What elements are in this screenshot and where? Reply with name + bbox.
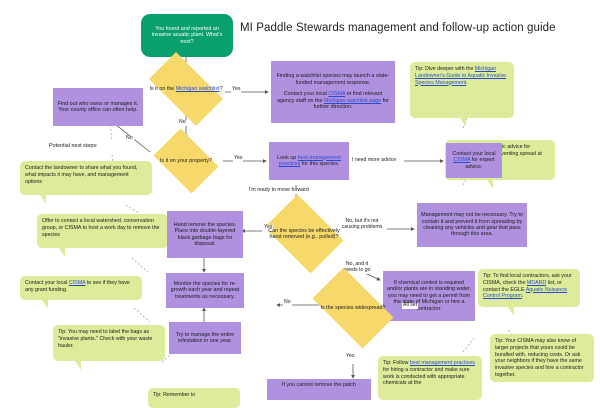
bh-b: for hiring a contractor and make sure wo… bbox=[383, 367, 470, 387]
decision-is-species-widespread[interactable]: Is the species widespread? bbox=[303, 277, 403, 339]
node-start-terminator[interactable]: You found and reported an invasive acuat… bbox=[141, 14, 233, 57]
tip-remember-text: Tip: Remember to bbox=[153, 392, 195, 398]
callout-tail bbox=[42, 300, 48, 309]
process-management-not-necessary[interactable]: Management may not be necessary. Try to … bbox=[417, 203, 527, 247]
process-look-up-bmp[interactable]: Look up best management practices for th… bbox=[269, 142, 349, 180]
tip-bundle-text: Tip: Your CISMA may also know of larger … bbox=[495, 338, 584, 378]
label-potential-next-steps: Potential next steps: bbox=[48, 143, 99, 149]
contact-cisma-text: Contact your local CISMA for expert advi… bbox=[450, 151, 498, 170]
process-cannot-remove-patch[interactable]: If you cannot remove the patch bbox=[267, 379, 371, 400]
watchlist-para-1: Finding a watchlist species may launch a… bbox=[275, 73, 391, 86]
edge-label-need-more-advice: I need more advice bbox=[351, 158, 397, 164]
decision-is-it-on-your-property[interactable]: Is it on your property? bbox=[148, 134, 224, 188]
decision-property-text: Is it on your property? bbox=[154, 158, 218, 164]
process-watchlist-response[interactable]: Finding a watchlist species may launch a… bbox=[271, 61, 395, 123]
cannot-remove-text: If you cannot remove the patch bbox=[282, 382, 356, 388]
tc-c: . bbox=[522, 293, 523, 299]
cc-a: Contact your local bbox=[452, 151, 495, 157]
find-owner-text: Find out who owns or manages it. Your co… bbox=[57, 101, 139, 114]
callout-tip-find-contractors[interactable]: Tip: To find local contractors, ask your… bbox=[478, 269, 580, 307]
page-title: MI Paddle Stewards management and follow… bbox=[240, 22, 556, 34]
cisma-link[interactable]: CISMA bbox=[328, 91, 345, 97]
cisma-link[interactable]: CISMA bbox=[453, 157, 470, 163]
decision-watchlist-text: Is it on the Michigan watchlist? bbox=[143, 86, 228, 92]
hand-remove-text: Hand remove the species. Place into doub… bbox=[171, 222, 239, 248]
best-management-practices-link[interactable]: best management practices bbox=[410, 360, 475, 366]
grant-a: Contact your local bbox=[25, 280, 69, 286]
process-contact-local-cisma[interactable]: Contact your local CISMA for expert advi… bbox=[446, 143, 502, 178]
decision-handremove-text: Can the species be effectively hand remo… bbox=[258, 228, 350, 241]
edge-label-widespread-yes: Yes bbox=[345, 354, 355, 360]
contain-text: Management may not be necessary. Try to … bbox=[421, 212, 523, 238]
watchlist-para-2: Contact your local CISMA or find relevan… bbox=[275, 91, 391, 110]
bmp-b: for this species. bbox=[300, 161, 339, 167]
p2a: Contact your local bbox=[284, 91, 329, 97]
callout-tip-remember[interactable]: Tip: Remember to bbox=[148, 388, 240, 408]
callout-tail bbox=[460, 118, 466, 127]
watchlist-suffix: ? bbox=[220, 86, 223, 92]
tip-bags-text: Tip: You may need to label the bags as "… bbox=[58, 329, 152, 349]
decision-is-it-on-watchlist[interactable]: Is it on the Michigan watchlist? bbox=[139, 62, 233, 116]
process-manage-entire-infestation[interactable]: Try to manage the entire infestation in … bbox=[169, 322, 241, 354]
process-monitor-regrowth[interactable]: Monitor the species for re-growth each y… bbox=[166, 273, 244, 308]
edge-label-property-yes: Yes bbox=[233, 156, 243, 162]
decision-can-species-be-hand-removed[interactable]: Can the species be effectively hand remo… bbox=[258, 201, 350, 267]
start-text: You found and reported an invasive acuat… bbox=[145, 26, 229, 45]
callout-tail bbox=[487, 180, 493, 189]
michigan-watchlist-link[interactable]: Michigan watchlist bbox=[176, 86, 220, 92]
bmp-a: Look up bbox=[277, 155, 298, 161]
callout-tip-label-bags[interactable]: Tip: You may need to label the bags as "… bbox=[53, 325, 165, 361]
callout-tip-bundle-projects[interactable]: Tip: Your CISMA may also know of larger … bbox=[490, 334, 594, 382]
callout-tail bbox=[59, 248, 65, 257]
mdard-link[interactable]: MDARD bbox=[527, 280, 546, 286]
callout-tip-landowner-guide[interactable]: Tip: Dive deeper with the Michigan Lando… bbox=[410, 62, 514, 118]
callout-contact-landowner[interactable]: Contact the landowner to share what you … bbox=[20, 161, 152, 195]
cisma-link[interactable]: CISMA bbox=[69, 280, 85, 286]
process-hand-remove-species[interactable]: Hand remove the species. Place into doub… bbox=[167, 211, 243, 258]
manage-entire-text: Try to manage the entire infestation in … bbox=[173, 332, 237, 345]
monitor-text: Monitor the species for re-growth each y… bbox=[170, 281, 240, 300]
michigan-watchlist-page-link[interactable]: Michigan watchlist page bbox=[324, 98, 381, 104]
flowchart-canvas: MI Paddle Stewards management and follow… bbox=[0, 0, 600, 400]
edge-label-all-set: All set bbox=[402, 303, 418, 309]
edge-label-ready-to-move-forward: I'm ready to move forward bbox=[248, 188, 310, 194]
tip-guide-b: . bbox=[466, 80, 467, 86]
watchlist-prefix: Is it on the bbox=[149, 86, 175, 92]
tip-guide-a: Tip: Dive deeper with the bbox=[415, 66, 475, 72]
callout-offer-workday[interactable]: Offer to contact a local watershed, cons… bbox=[37, 214, 168, 248]
process-find-owner[interactable]: Find out who owns or manages it. Your co… bbox=[53, 88, 143, 126]
cc-b: for expert advice. bbox=[465, 157, 494, 169]
edge-label-widespread-no: No bbox=[283, 300, 292, 306]
edge-label-property-no: No bbox=[125, 136, 134, 142]
callout-tail bbox=[75, 361, 81, 370]
callout-tail bbox=[508, 307, 514, 316]
offer-workday-text: Offer to contact a local watershed, cons… bbox=[42, 218, 159, 238]
bh-a: Tip: Follow bbox=[383, 360, 410, 366]
contact-landowner-text: Contact the landowner to share what you … bbox=[25, 165, 137, 185]
decision-widespread-text: Is the species widespread? bbox=[314, 305, 391, 311]
edge-label-watchlist-yes: Yes bbox=[231, 87, 241, 93]
callout-grant-funding[interactable]: Contact your local CISMA to see if they … bbox=[20, 276, 142, 300]
callout-tip-bmp-hiring[interactable]: Tip: Follow best management practices fo… bbox=[378, 356, 482, 400]
bmp-text: Look up best management practices for th… bbox=[273, 155, 345, 168]
callout-tail bbox=[40, 195, 46, 204]
edge-label-watchlist-no: No bbox=[178, 120, 187, 126]
